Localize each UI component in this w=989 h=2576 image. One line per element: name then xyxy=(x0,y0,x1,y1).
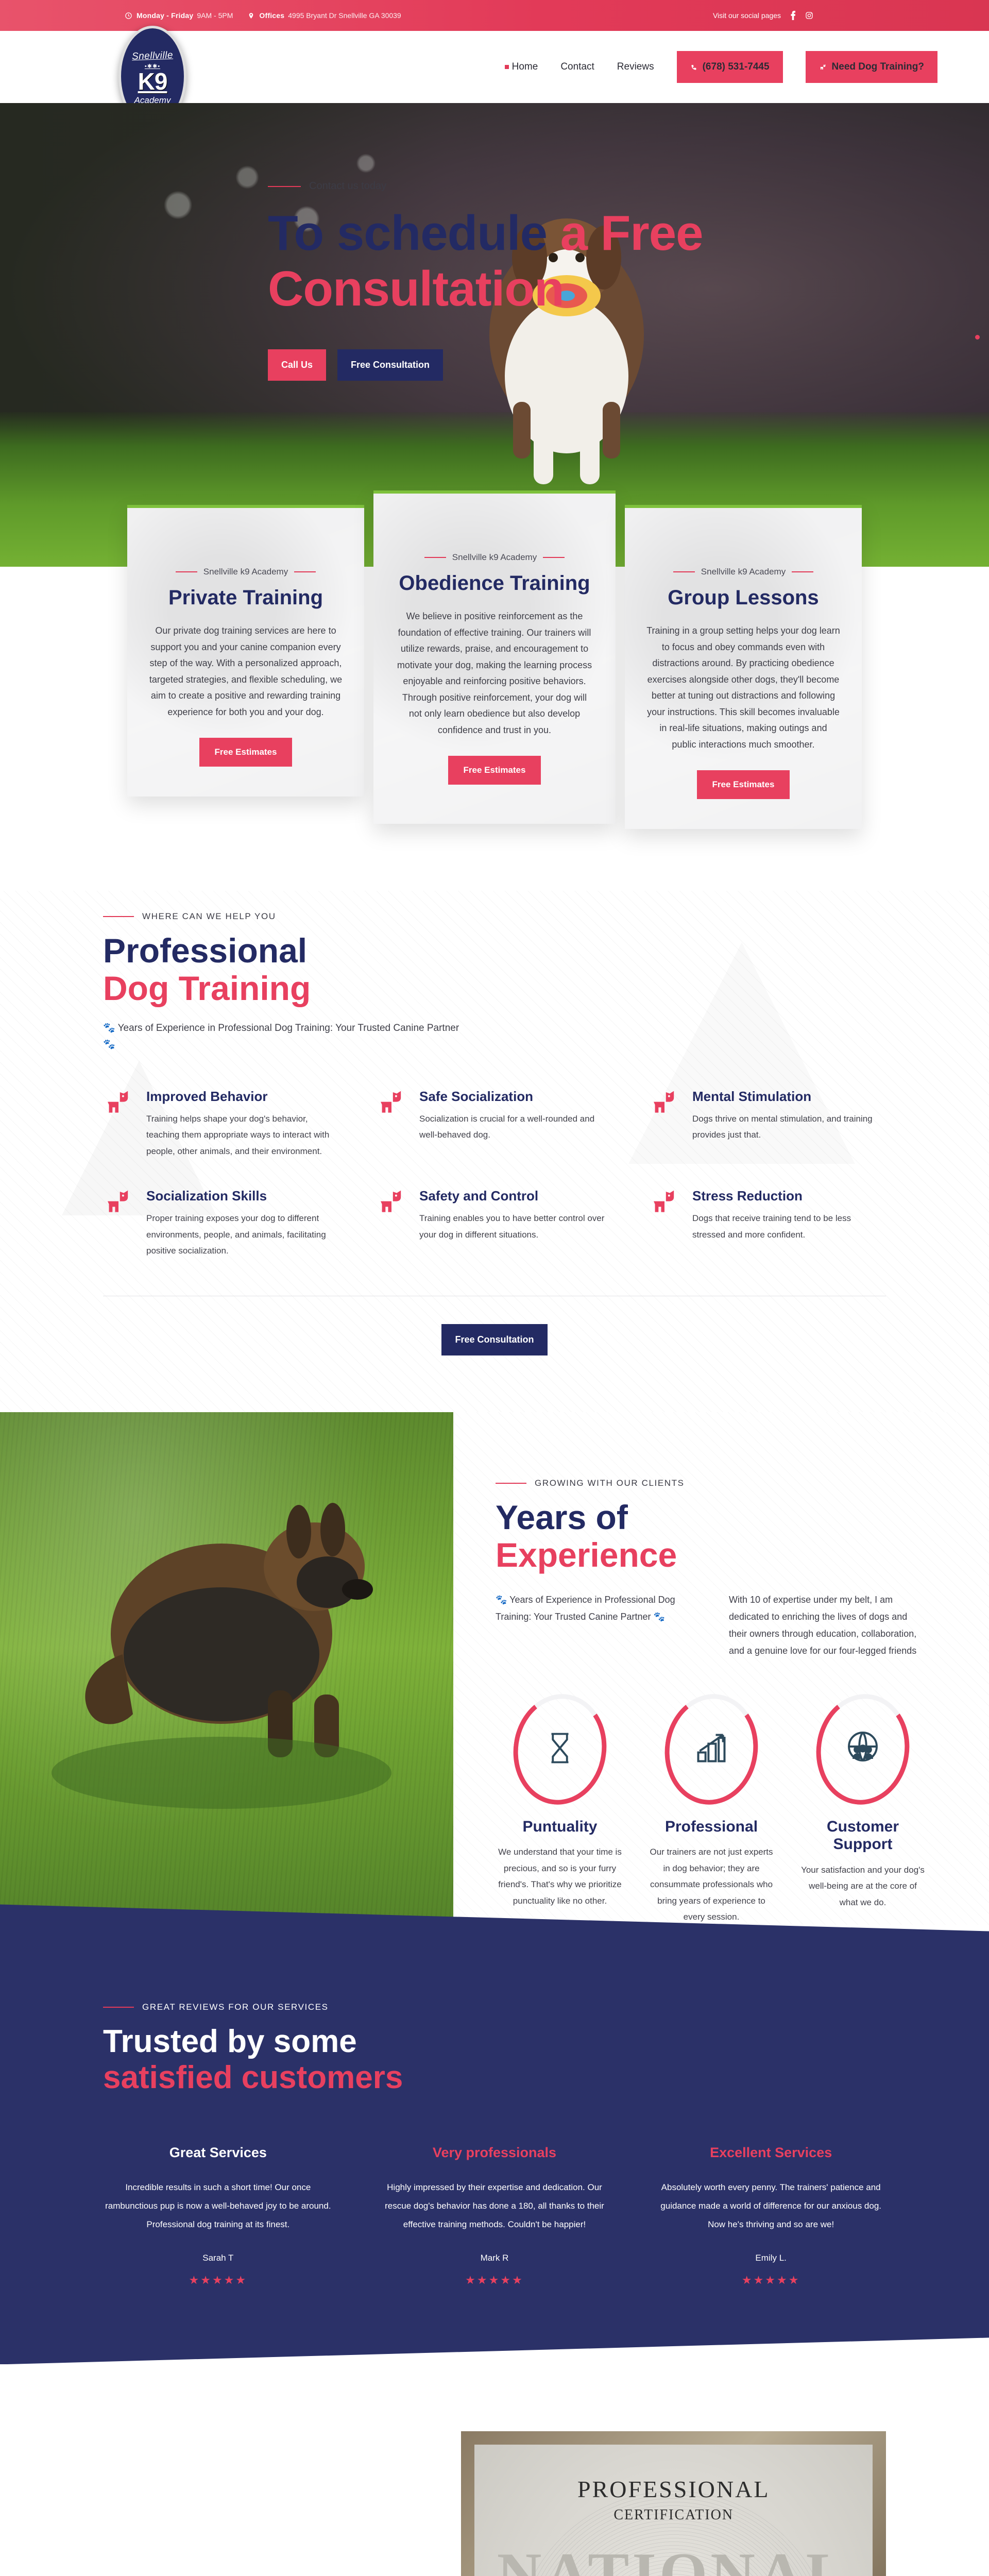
card-eyebrow-label: Snellville k9 Academy xyxy=(203,567,288,577)
certificate-frame: PROFESSIONAL CERTIFICATION NATIONAL Juan… xyxy=(461,2431,886,2576)
feature-title: Safety and Control xyxy=(419,1188,613,1204)
review-card: Great Services Incredible results in suc… xyxy=(103,2145,333,2287)
reviews-section: GREAT REVIEWS FOR OUR SERVICES Trusted b… xyxy=(0,1904,989,2364)
feature-item: Safe Socialization Socialization is cruc… xyxy=(376,1089,613,1159)
review-stars: ★★★★★ xyxy=(103,2274,333,2287)
hero-eyebrow-label: Contact us today xyxy=(309,180,386,192)
logo-k9: K9 xyxy=(138,70,167,93)
section-title-pink: Dog Training xyxy=(103,970,886,1007)
card-eyebrow-label: Snellville k9 Academy xyxy=(701,567,786,577)
hero-title-line-2: a Free xyxy=(560,206,703,261)
dog-icon xyxy=(819,63,827,71)
offices-value: 4995 Bryant Dr Snellville GA 30039 xyxy=(288,11,401,20)
review-body: Incredible results in such a short time!… xyxy=(103,2178,333,2233)
review-grid: Great Services Incredible results in suc… xyxy=(103,2145,886,2287)
feature-grid: Improved Behavior Training helps shape y… xyxy=(103,1089,886,1259)
header-phone-label: (678) 531-7445 xyxy=(703,61,770,73)
feature-body: Training enables you to have better cont… xyxy=(419,1210,613,1243)
feature-title: Safe Socialization xyxy=(419,1089,613,1105)
section-eyebrow: WHERE CAN WE HELP YOU xyxy=(103,911,886,922)
card-body: Training in a group setting helps your d… xyxy=(646,623,840,753)
globe-people-icon xyxy=(844,1730,881,1769)
hero-title: To schedule a Free Consultation xyxy=(268,206,989,316)
feature-body: Proper training exposes your dog to diff… xyxy=(146,1210,340,1259)
nav-item-contact[interactable]: Contact xyxy=(560,61,594,73)
social-label: Visit our social pages xyxy=(713,11,781,20)
review-stars: ★★★★★ xyxy=(656,2274,886,2287)
feature-title: Socialization Skills xyxy=(146,1188,340,1204)
section-title-navy: Professional xyxy=(103,932,886,970)
experience-section: GROWING WITH OUR CLIENTS Years of Experi… xyxy=(0,1412,989,1925)
nav-item-reviews[interactable]: Reviews xyxy=(617,61,654,73)
certificate-heading-line-1: PROFESSIONAL xyxy=(577,2476,770,2503)
feature-title: Improved Behavior xyxy=(146,1089,340,1105)
business-hours: Monday - Friday 9AM - 5PM xyxy=(124,11,233,20)
header-phone-button[interactable]: (678) 531-7445 xyxy=(677,51,783,83)
growth-chart-icon xyxy=(694,1730,729,1769)
certificate-watermark: NATIONAL xyxy=(497,2539,850,2576)
feature-body: Socialization is crucial for a well-roun… xyxy=(419,1111,613,1143)
office-address: Offices 4995 Bryant Dr Snellville GA 300… xyxy=(246,11,401,20)
site-header: Snellville •✱✱• K9 Academy Home Contact … xyxy=(0,31,989,103)
german-shepherd-image xyxy=(0,1412,453,1819)
certificate-section: WE ARE CERTIFIED Certified dog training … xyxy=(0,2364,989,2576)
header-cta-label: Need Dog Training? xyxy=(832,61,924,73)
nav-item-home[interactable]: Home xyxy=(512,61,538,73)
card-estimate-button[interactable]: Free Estimates xyxy=(697,770,790,799)
professional-training-section: WHERE CAN WE HELP YOU Professional Dog T… xyxy=(0,891,989,1412)
header-cta-button[interactable]: Need Dog Training? xyxy=(806,51,937,83)
logo-line-top: Snellville xyxy=(132,49,174,62)
review-title: Great Services xyxy=(103,2145,333,2161)
phone-icon xyxy=(690,63,698,71)
section-eyebrow-label: GREAT REVIEWS FOR OUR SERVICES xyxy=(142,2002,329,2012)
dog-icon xyxy=(376,1089,408,1159)
dog-icon xyxy=(649,1089,681,1159)
card-title: Obedience Training xyxy=(395,572,594,595)
review-author: Emily L. xyxy=(656,2253,886,2263)
card-estimate-button[interactable]: Free Estimates xyxy=(448,756,541,785)
section-title: Professional Dog Training xyxy=(103,932,886,1007)
hero-free-consultation-button[interactable]: Free Consultation xyxy=(337,349,443,381)
hours-label: Monday - Friday xyxy=(137,11,193,20)
hero-title-line-1: To schedule xyxy=(268,206,547,261)
dog-icon xyxy=(103,1089,135,1159)
feature-item: Improved Behavior Training helps shape y… xyxy=(103,1089,340,1159)
service-cards: Snellville k9 Academy Private Training O… xyxy=(0,505,989,891)
clock-icon xyxy=(124,11,133,20)
hours-value: 9AM - 5PM xyxy=(197,11,233,20)
reviews-title-white: Trusted by some xyxy=(103,2024,886,2059)
feature-body: Dogs that receive training tend to be le… xyxy=(692,1210,886,1243)
reviews-title-pink: satisfied customers xyxy=(103,2060,886,2095)
certificate-heading-line-2: CERTIFICATION xyxy=(613,2507,734,2523)
offices-label: Offices xyxy=(259,11,284,20)
feature-item: Mental Stimulation Dogs thrive on mental… xyxy=(649,1089,886,1159)
review-author: Sarah T xyxy=(103,2253,333,2263)
feature-title: Stress Reduction xyxy=(692,1188,886,1204)
card-body: Our private dog training services are he… xyxy=(149,623,343,720)
feature-body: Training helps shape your dog's behavior… xyxy=(146,1111,340,1159)
main-navigation: Home Contact Reviews (678) 531-7445 Need… xyxy=(512,51,937,83)
facebook-icon[interactable] xyxy=(788,11,797,20)
review-title: Excellent Services xyxy=(656,2145,886,2161)
feature-item: Stress Reduction Dogs that receive train… xyxy=(649,1188,886,1259)
feature-title: Mental Stimulation xyxy=(692,1089,886,1105)
dog-icon xyxy=(649,1188,681,1259)
card-eyebrow-label: Snellville k9 Academy xyxy=(452,552,537,563)
service-card-obedience-training: Snellville k9 Academy Obedience Training… xyxy=(373,490,616,824)
card-estimate-button[interactable]: Free Estimates xyxy=(199,738,293,767)
section-eyebrow-label: WHERE CAN WE HELP YOU xyxy=(142,911,276,922)
section-divider xyxy=(103,1296,886,1296)
card-body: We believe in positive reinforcement as … xyxy=(395,608,594,738)
hero-eyebrow: Contact us today xyxy=(268,180,989,192)
pro-free-consultation-button[interactable]: Free Consultation xyxy=(441,1324,547,1355)
review-card: Excellent Services Absolutely worth ever… xyxy=(656,2145,886,2287)
card-eyebrow: Snellville k9 Academy xyxy=(149,567,343,577)
hero-call-us-button[interactable]: Call Us xyxy=(268,349,326,381)
map-pin-icon xyxy=(246,11,255,20)
experience-photo xyxy=(0,1412,453,1925)
service-card-private-training: Snellville k9 Academy Private Training O… xyxy=(127,505,364,796)
section-title: Trusted by some satisfied customers xyxy=(103,2024,886,2095)
review-body: Highly impressed by their expertise and … xyxy=(380,2178,610,2233)
review-body: Absolutely worth every penny. The traine… xyxy=(656,2178,886,2233)
section-eyebrow: GREAT REVIEWS FOR OUR SERVICES xyxy=(103,2002,886,2012)
certificate-paper: PROFESSIONAL CERTIFICATION NATIONAL Juan… xyxy=(474,2445,873,2576)
review-stars: ★★★★★ xyxy=(380,2274,610,2287)
card-eyebrow: Snellville k9 Academy xyxy=(395,552,594,563)
review-title: Very professionals xyxy=(380,2145,610,2161)
eyebrow-rule xyxy=(268,186,301,187)
review-author: Mark R xyxy=(380,2253,610,2263)
service-card-group-lessons: Snellville k9 Academy Group Lessons Trai… xyxy=(625,505,862,829)
feature-item: Socialization Skills Proper training exp… xyxy=(103,1188,340,1259)
dog-icon xyxy=(376,1188,408,1259)
card-eyebrow: Snellville k9 Academy xyxy=(646,567,840,577)
dog-icon xyxy=(103,1188,135,1259)
card-title: Group Lessons xyxy=(646,586,840,609)
feature-item: Safety and Control Training enables you … xyxy=(376,1188,613,1259)
feature-body: Dogs thrive on mental stimulation, and t… xyxy=(692,1111,886,1143)
instagram-icon[interactable] xyxy=(805,11,814,20)
section-lead: 🐾 Years of Experience in Professional Do… xyxy=(103,1020,474,1054)
hero-title-line-3: Consultation xyxy=(268,261,564,316)
review-card: Very professionals Highly impressed by t… xyxy=(380,2145,610,2287)
card-title: Private Training xyxy=(149,586,343,609)
hourglass-icon xyxy=(543,1728,577,1770)
